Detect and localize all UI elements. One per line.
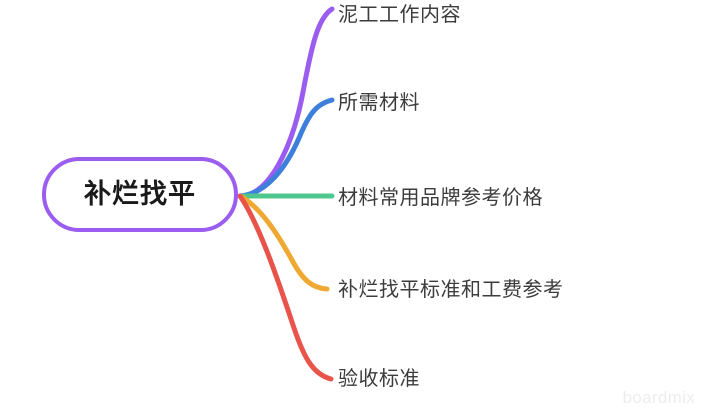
- branch-node-3[interactable]: 补烂找平标准和工费参考: [338, 278, 564, 302]
- root-node[interactable]: 补烂找平: [42, 157, 238, 232]
- branch-node-label-4: 验收标准: [338, 368, 420, 390]
- branch-node-label-3: 补烂找平标准和工费参考: [338, 279, 564, 301]
- root-node-label: 补烂找平: [84, 181, 196, 208]
- mindmap-canvas[interactable]: 补烂找平 泥工工作内容 所需材料 材料常用品牌参考价格 补烂找平标准和工费参考 …: [0, 0, 707, 414]
- branch-node-0[interactable]: 泥工工作内容: [338, 3, 461, 27]
- branch-connector-3: [240, 196, 327, 289]
- branch-node-2[interactable]: 材料常用品牌参考价格: [338, 186, 543, 210]
- branch-node-1[interactable]: 所需材料: [338, 91, 420, 115]
- branch-node-label-2: 材料常用品牌参考价格: [338, 187, 543, 209]
- branch-node-label-0: 泥工工作内容: [338, 4, 461, 26]
- branch-node-label-1: 所需材料: [338, 92, 420, 114]
- branch-node-4[interactable]: 验收标准: [338, 367, 420, 391]
- boardmix-watermark: boardmix: [623, 388, 695, 408]
- branch-connector-0: [240, 9, 332, 196]
